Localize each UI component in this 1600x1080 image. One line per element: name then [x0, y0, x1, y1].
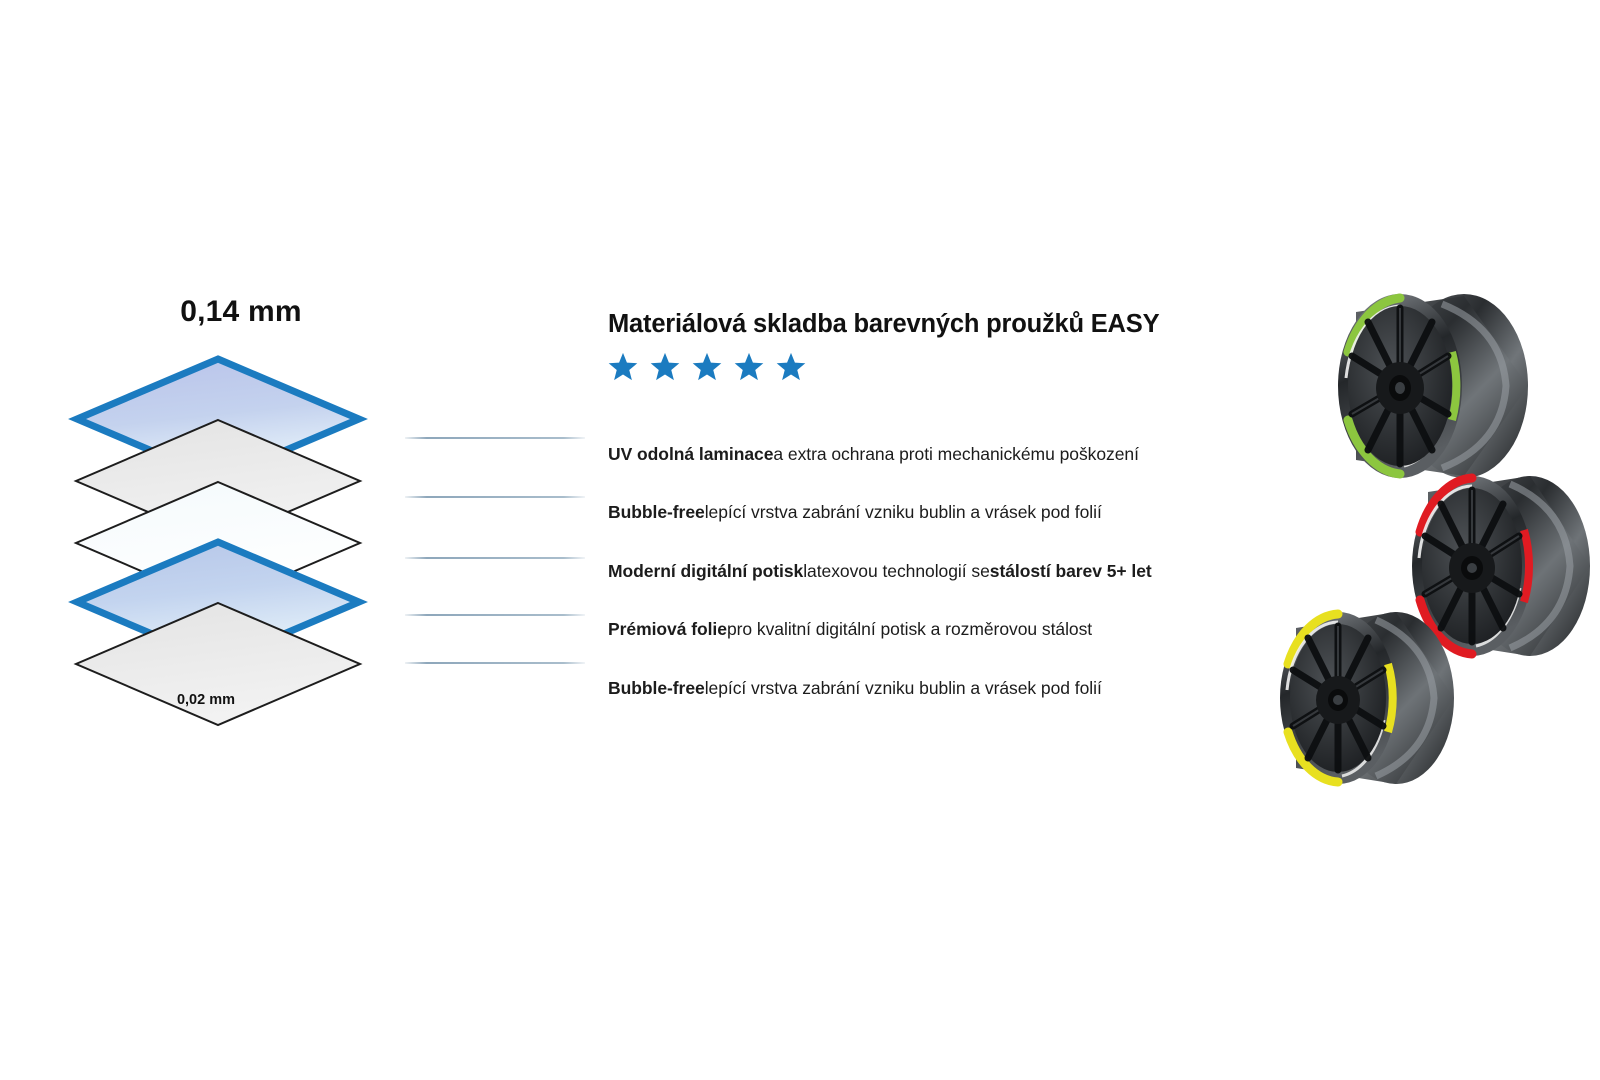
feature-tail: stálostí barev 5+ let — [990, 561, 1152, 582]
feature-lead: Moderní digitální potisk — [608, 561, 803, 582]
feature-lead: Prémiová folie — [608, 619, 727, 640]
feature-rest: lepící vrstva zabrání vzniku bublin a vr… — [705, 678, 1102, 699]
feature-lead: Bubble-free — [608, 678, 705, 699]
connector-line-4 — [405, 614, 585, 616]
feature-lead: UV odolná laminace — [608, 444, 773, 465]
material-layer-diagram: 0,14 mm 0,05 mm 0,02 mm — [55, 295, 385, 735]
feature-row: UV odolná laminace a extra ochrana proti… — [608, 425, 1398, 484]
feature-row: Moderní digitální potisk latexovou techn… — [608, 542, 1398, 601]
rating-stars — [608, 352, 1368, 386]
motorcycle-wheel-green-stripe-image — [1292, 282, 1560, 482]
connector-line-3 — [405, 557, 585, 559]
layer-thickness-label-adhesive-bottom: 0,02 mm — [55, 692, 345, 708]
motorcycle-wheel-yellow-stripe-image — [1240, 600, 1478, 790]
connector-line-5 — [405, 662, 585, 664]
header-block: Materiálová skladba barevných proužků EA… — [608, 310, 1368, 386]
page-title: Materiálová skladba barevných proužků EA… — [608, 310, 1368, 338]
star-icon — [734, 352, 764, 386]
feature-rest: latexovou technologií se — [803, 561, 990, 582]
connector-line-1 — [405, 437, 585, 439]
layer-sheet-adhesive-bottom — [73, 600, 363, 728]
total-thickness-label: 0,14 mm — [55, 295, 385, 329]
star-icon — [692, 352, 722, 386]
star-icon — [776, 352, 806, 386]
connector-line-2 — [405, 496, 585, 498]
feature-rest: lepící vrstva zabrání vzniku bublin a vr… — [705, 502, 1102, 523]
feature-row: Bubble-free lepící vrstva zabrání vzniku… — [608, 484, 1398, 543]
feature-rest: a extra ochrana proti mechanickému poško… — [773, 444, 1139, 465]
star-icon — [650, 352, 680, 386]
star-icon — [608, 352, 638, 386]
feature-lead: Bubble-free — [608, 502, 705, 523]
feature-rest: pro kvalitní digitální potisk a rozměrov… — [727, 619, 1092, 640]
